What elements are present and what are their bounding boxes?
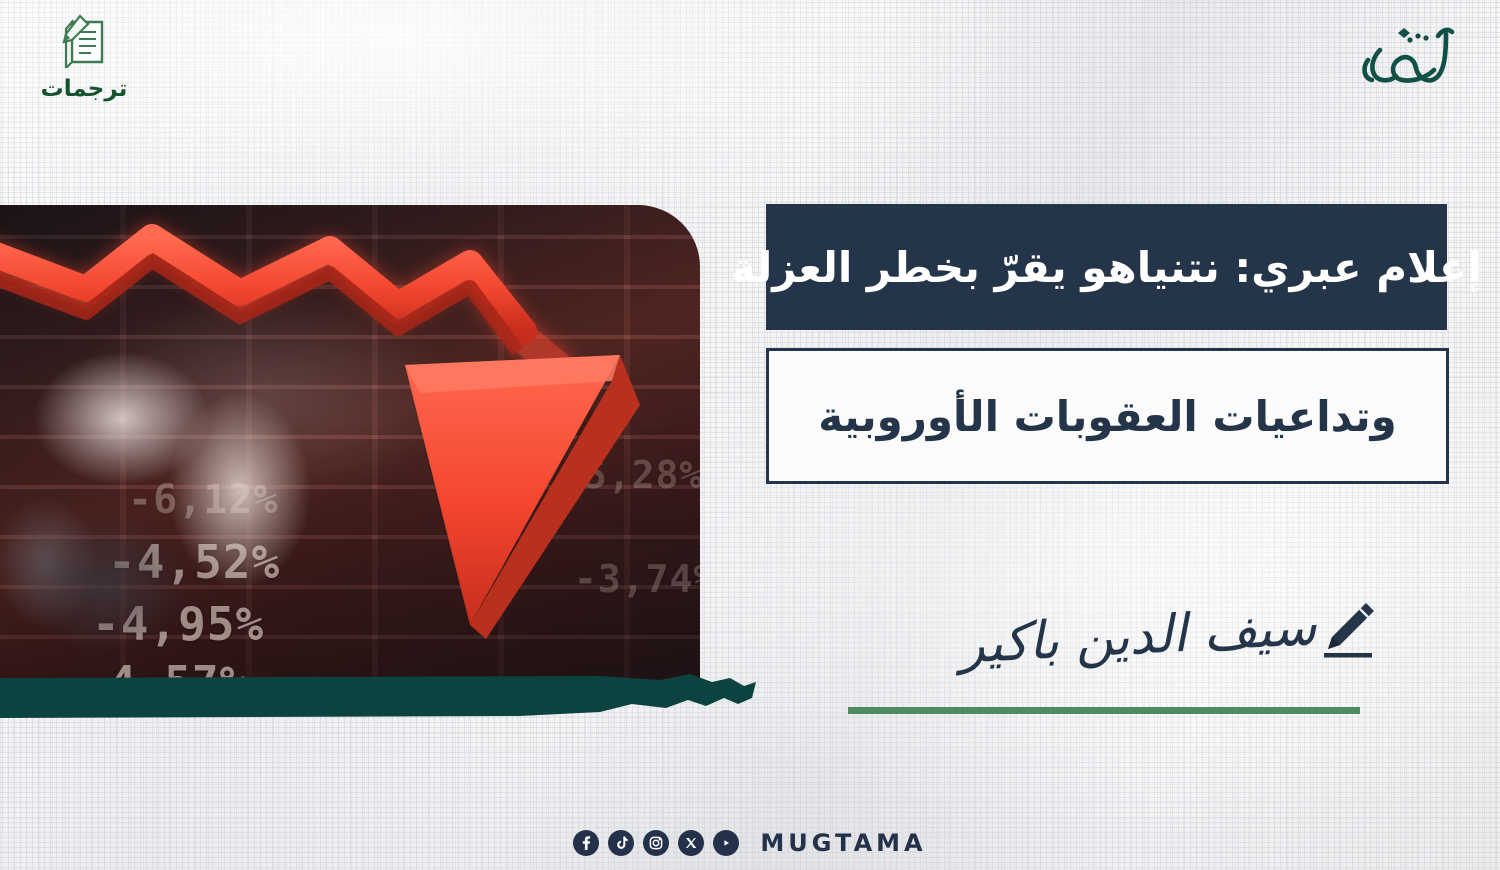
- youtube-icon[interactable]: [713, 830, 739, 856]
- author-name: سيف الدين باكير: [958, 597, 1318, 676]
- x-twitter-icon[interactable]: [678, 830, 704, 856]
- facebook-icon[interactable]: [573, 830, 599, 856]
- brand-logo: المجتمع: [1350, 16, 1462, 106]
- footer-brand-name: MUGTAMA: [760, 829, 926, 857]
- translations-badge: ترجمات: [24, 12, 144, 102]
- instagram-icon[interactable]: [643, 830, 669, 856]
- headline-line-2-text: وتداعيات العقوبات الأوروبية: [818, 392, 1396, 441]
- falling-red-arrow-icon: [0, 205, 700, 685]
- footer-bar: MUGTAMA: [0, 826, 1500, 860]
- translations-label: ترجمات: [24, 76, 144, 102]
- headline-line-1: إعلام عبري: نتنياهو يقرّ بخطر العزلة: [766, 204, 1447, 330]
- headline-line-1-text: إعلام عبري: نتنياهو يقرّ بخطر العزلة: [731, 243, 1482, 292]
- hero-image: 20 שקליםחדשים -6,12% -4,52% -4,95% -4,57…: [0, 205, 700, 685]
- green-brush-stroke: [0, 660, 760, 752]
- headline-line-2: وتداعيات العقوبات الأوروبية: [766, 348, 1449, 484]
- tiktok-icon[interactable]: [608, 830, 634, 856]
- pen-signature-icon: [1316, 597, 1380, 669]
- notepad-pencil-icon: [58, 53, 110, 72]
- author-block: سيف الدين باكير: [848, 575, 1368, 685]
- author-underline: [848, 707, 1360, 714]
